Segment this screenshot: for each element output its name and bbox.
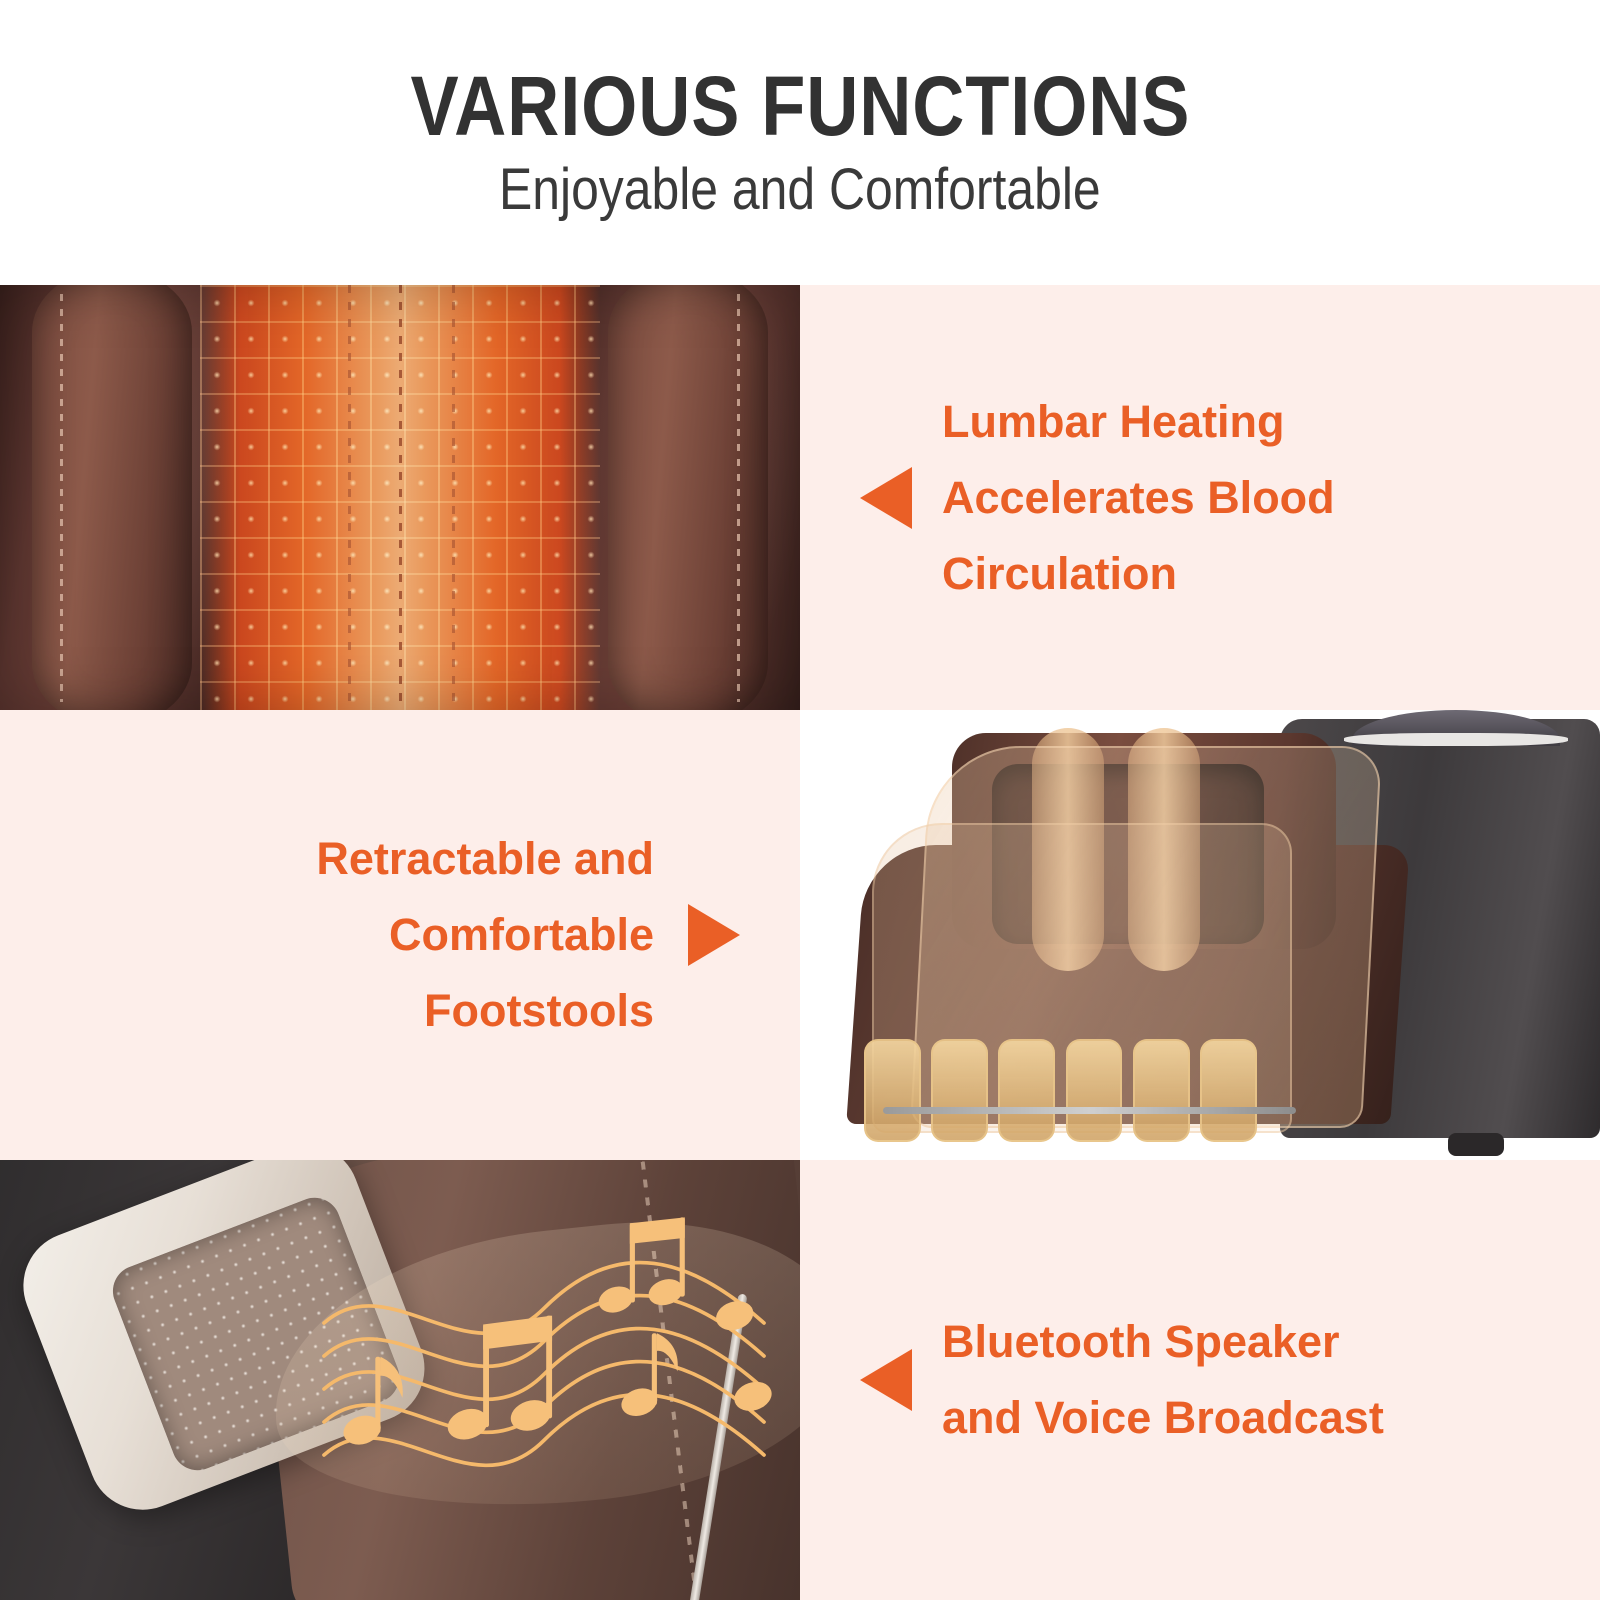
foot-roller-group — [864, 1043, 1344, 1142]
caption-line: and Voice Broadcast — [942, 1380, 1384, 1456]
page-title: VARIOUS FUNCTIONS — [410, 62, 1190, 150]
stitching-right — [737, 294, 740, 702]
music-notes-graphic — [240, 1213, 800, 1521]
stitching-left — [60, 294, 63, 702]
foot-roller — [931, 1039, 988, 1142]
side-bolster-right — [608, 285, 768, 710]
lumbar-heating-photo — [0, 285, 800, 710]
caption-line: Bluetooth Speaker — [942, 1304, 1384, 1380]
side-bolster-left — [32, 285, 192, 710]
feature-photo-retractable-footstools — [800, 710, 1600, 1160]
feature-caption-retractable-footstools: Retractable and Comfortable Footstools — [316, 821, 654, 1049]
page-subtitle: Enjoyable and Comfortable — [499, 158, 1101, 222]
feature-panel-bluetooth-speaker: Bluetooth Speaker and Voice Broadcast — [800, 1160, 1600, 1600]
footstool-photo — [800, 710, 1600, 1160]
speaker-photo — [0, 1160, 800, 1600]
caption-line: Retractable and — [316, 821, 654, 897]
feature-grid: Lumbar Heating Accelerates Blood Circula… — [0, 285, 1600, 1600]
foot-roller — [864, 1039, 921, 1142]
caption-line: Accelerates Blood — [942, 460, 1335, 536]
feature-photo-lumbar-heating — [0, 285, 800, 710]
center-seam — [399, 285, 402, 710]
triangle-right-icon — [688, 904, 740, 966]
chair-caster — [1448, 1133, 1504, 1156]
chair-shell-chrome-trim — [1344, 733, 1568, 747]
foot-roller — [1133, 1039, 1190, 1142]
feature-photo-bluetooth-speaker — [0, 1160, 800, 1600]
seam-right — [452, 285, 455, 710]
caption-line: Circulation — [942, 536, 1335, 612]
foot-roller — [998, 1039, 1055, 1142]
seam-left — [348, 285, 351, 710]
triangle-left-icon — [860, 1349, 912, 1411]
foot-roller — [1066, 1039, 1123, 1142]
caption-line: Comfortable — [316, 897, 654, 973]
caption-line: Lumbar Heating — [942, 384, 1335, 460]
feature-caption-bluetooth-speaker: Bluetooth Speaker and Voice Broadcast — [942, 1304, 1384, 1456]
triangle-left-icon — [860, 467, 912, 529]
caption-line: Footstools — [316, 973, 654, 1049]
page-header: VARIOUS FUNCTIONS Enjoyable and Comforta… — [0, 0, 1600, 285]
feature-panel-lumbar-heating: Lumbar Heating Accelerates Blood Circula… — [800, 285, 1600, 710]
feature-caption-lumbar-heating: Lumbar Heating Accelerates Blood Circula… — [942, 384, 1335, 612]
roller-shaft — [883, 1107, 1296, 1114]
infographic-page: VARIOUS FUNCTIONS Enjoyable and Comforta… — [0, 0, 1600, 1600]
feature-panel-retractable-footstools: Retractable and Comfortable Footstools — [0, 710, 800, 1160]
foot-roller — [1200, 1039, 1257, 1142]
